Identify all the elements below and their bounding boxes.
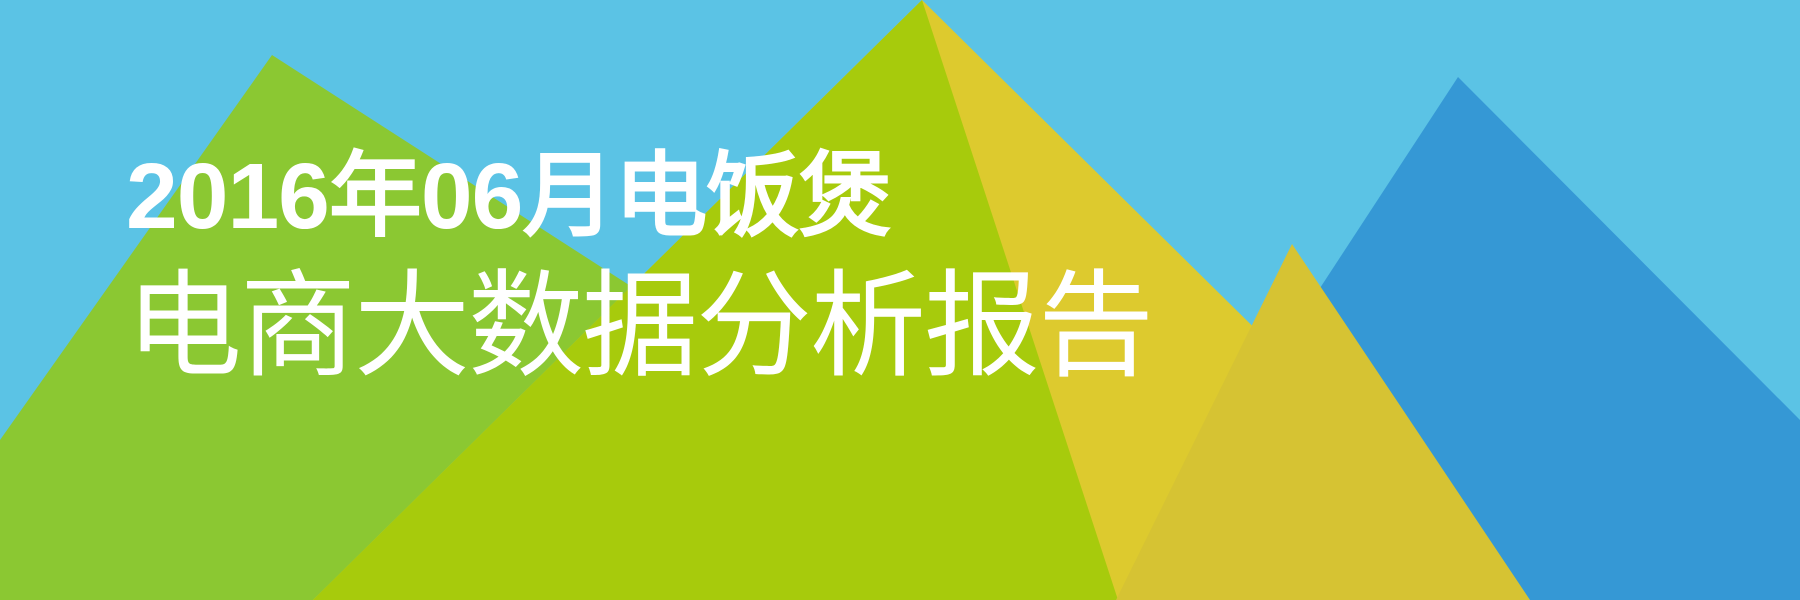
cover-title-block: 2016年06月电饭煲 电商大数据分析报告 xyxy=(126,150,1152,388)
page-title-line-1: 2016年06月电饭煲 xyxy=(126,150,1152,246)
report-cover-slide: 2016年06月电饭煲 电商大数据分析报告 xyxy=(0,0,1800,600)
page-title-line-2: 电商大数据分析报告 xyxy=(126,268,1152,388)
